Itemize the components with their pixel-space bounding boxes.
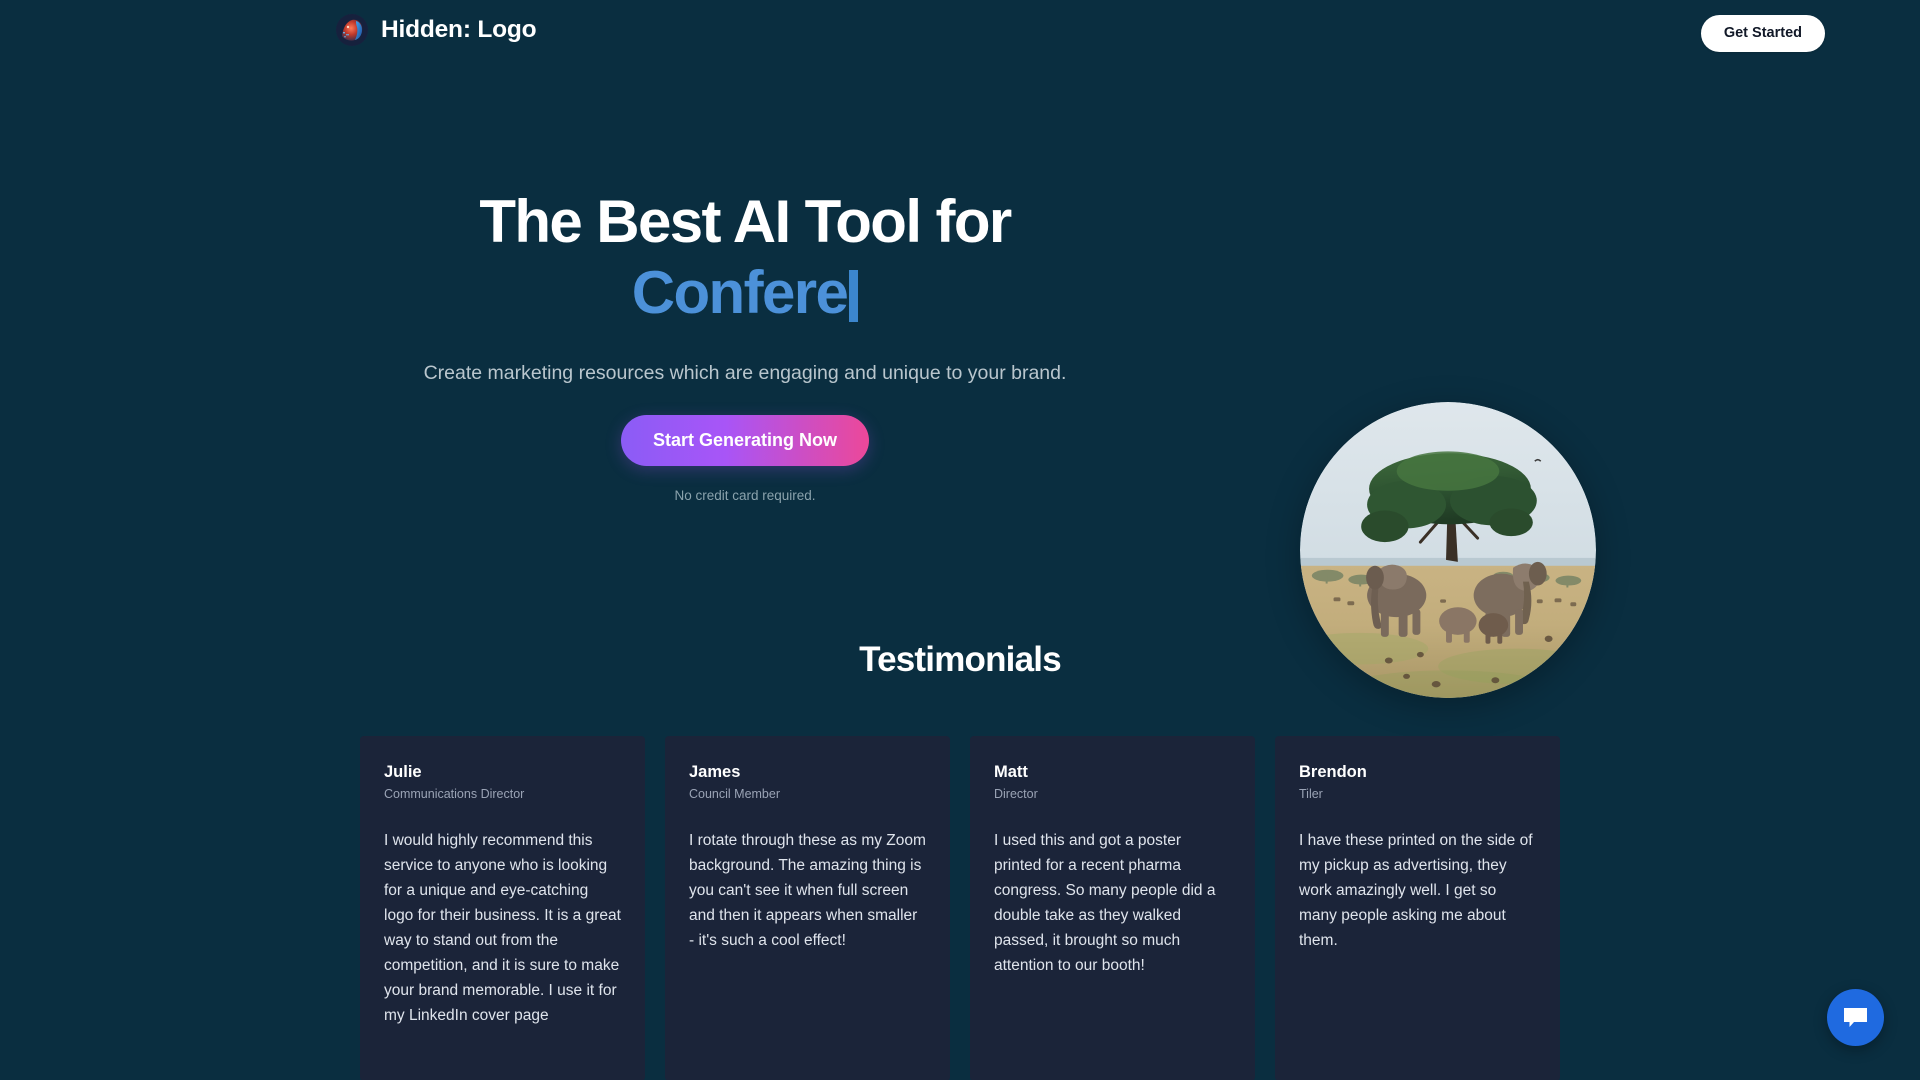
testimonial-card: James Council Member I rotate through th… xyxy=(665,736,950,1080)
testimonial-role: Communications Director xyxy=(384,787,621,801)
chat-bubble-icon xyxy=(1842,1006,1869,1030)
testimonial-card: Julie Communications Director I would hi… xyxy=(360,736,645,1080)
brand-link[interactable]: Hidden: Logo xyxy=(336,14,536,46)
testimonial-name: James xyxy=(689,762,926,783)
no-credit-card-note: No credit card required. xyxy=(160,488,1330,503)
testimonial-quote: I have these printed on the side of my p… xyxy=(1299,828,1536,954)
testimonial-role: Director xyxy=(994,787,1231,801)
landing-page: Hidden: Logo Get Started The Best AI Too… xyxy=(0,0,1920,1080)
testimonial-role: Council Member xyxy=(689,787,926,801)
testimonial-card: Brendon Tiler I have these printed on th… xyxy=(1275,736,1560,1080)
site-header: Hidden: Logo Get Started xyxy=(0,0,1920,70)
hero-section: The Best AI Tool for Confere Create mark… xyxy=(0,190,1920,520)
testimonial-name: Brendon xyxy=(1299,762,1536,783)
testimonial-quote: I used this and got a poster printed for… xyxy=(994,828,1231,979)
brand-logo-icon xyxy=(336,14,368,46)
hero-title-typed-text: Confere xyxy=(632,259,848,326)
testimonials-section: Testimonials Julie Communications Direct… xyxy=(0,640,1920,680)
testimonial-card: Matt Director I used this and got a post… xyxy=(970,736,1255,1080)
testimonial-quote: I would highly recommend this service to… xyxy=(384,828,621,1029)
get-started-button[interactable]: Get Started xyxy=(1701,15,1825,52)
hero-copy: The Best AI Tool for Confere Create mark… xyxy=(160,190,1330,503)
testimonial-quote: I rotate through these as my Zoom backgr… xyxy=(689,828,926,954)
testimonial-role: Tiler xyxy=(1299,787,1536,801)
start-generating-now-button[interactable]: Start Generating Now xyxy=(621,415,869,466)
hero-title-line-2-typewriter: Confere xyxy=(160,261,1330,326)
hero-title: The Best AI Tool for Confere xyxy=(160,190,1330,326)
typing-caret-icon xyxy=(849,270,858,322)
chat-widget-button[interactable] xyxy=(1827,989,1884,1046)
brand-title: Hidden: Logo xyxy=(381,16,536,44)
testimonial-name: Julie xyxy=(384,762,621,783)
testimonials-heading: Testimonials xyxy=(0,640,1920,680)
testimonial-name: Matt xyxy=(994,762,1231,783)
testimonials-list: Julie Communications Director I would hi… xyxy=(360,736,1560,1080)
hero-title-line-1: The Best AI Tool for xyxy=(479,188,1010,255)
hero-subtitle: Create marketing resources which are eng… xyxy=(160,359,1330,388)
